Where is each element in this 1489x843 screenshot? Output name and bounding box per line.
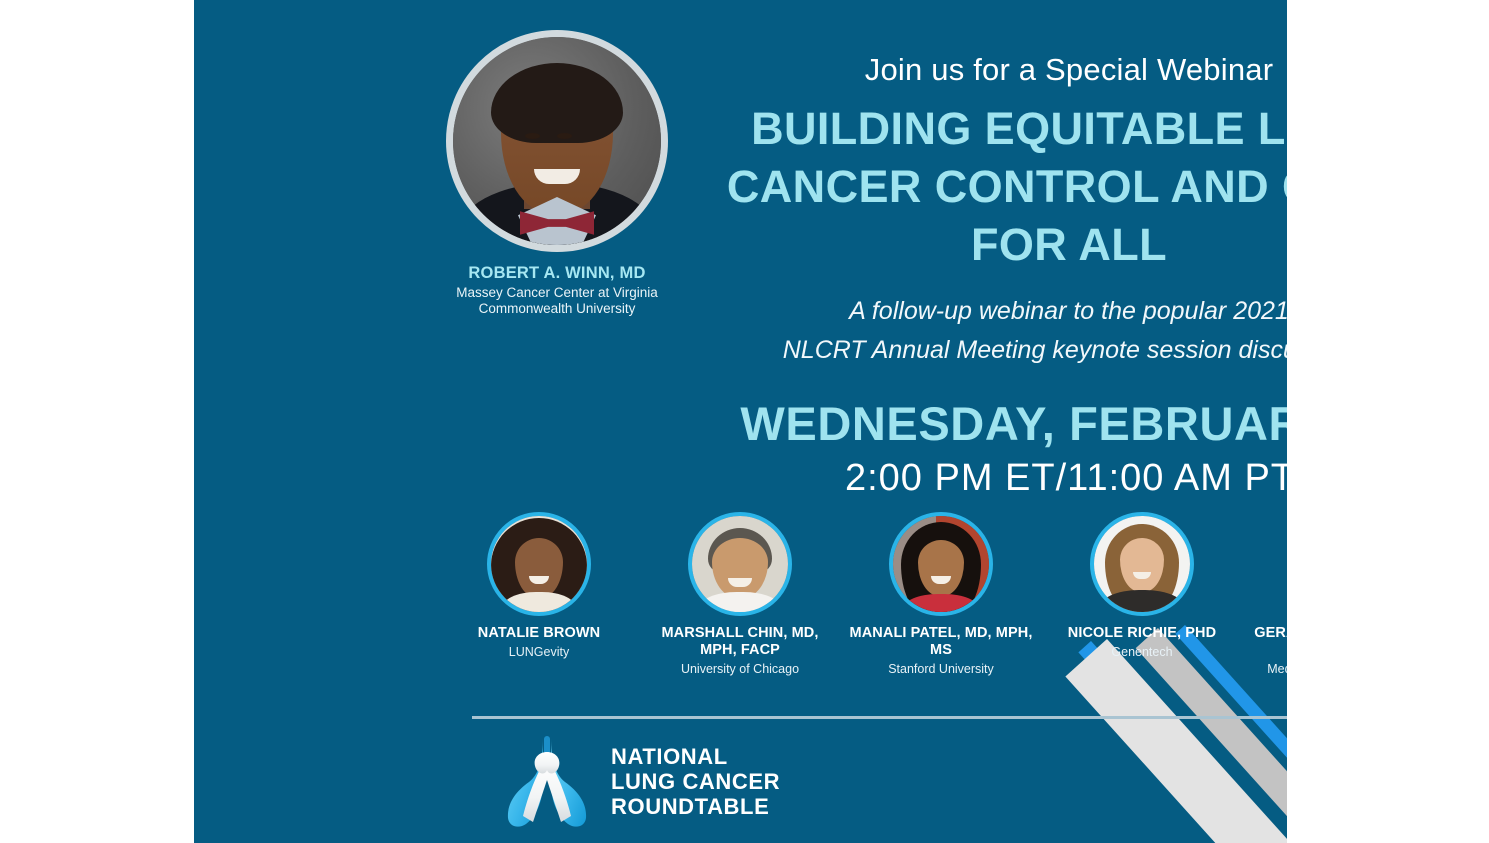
panelist-avatar <box>889 512 993 616</box>
panelist-name: MARSHALL CHIN, MD, MPH, FACP <box>647 625 833 659</box>
subtitle-text: A follow-up webinar to the popular 2021 … <box>694 292 1287 370</box>
org-line-2: LUNG CANCER <box>611 769 780 794</box>
panelist-manali-patel: MANALI PATEL, MD, MPH, MS Stanford Unive… <box>848 512 1034 677</box>
organization-name: NATIONAL LUNG CANCER ROUNDTABLE <box>611 744 780 819</box>
panelist-affiliation: Stanford University <box>848 662 1034 677</box>
avatar-body <box>903 594 979 616</box>
panelist-affiliation: Medical University of South Carolina <box>1250 662 1287 692</box>
org-line-1: NATIONAL <box>611 744 780 769</box>
organization-logo: NATIONAL LUNG CANCER ROUNDTABLE <box>499 730 780 832</box>
panelist-name: NATALIE BROWN <box>446 625 632 642</box>
avatar-eye-right <box>557 133 572 139</box>
poster-canvas: ROBERT A. WINN, MD Massey Cancer Center … <box>0 0 1489 843</box>
org-line-3: ROUNDTABLE <box>611 794 780 819</box>
headline-line-2: CANCER CONTROL AND CARE <box>694 158 1287 216</box>
panelist-role: Moderator <box>1250 692 1287 707</box>
panelist-nicole-richie: NICOLE RICHIE, PHD Genentech <box>1049 512 1235 660</box>
panelist-marshall-chin: MARSHALL CHIN, MD, MPH, FACP University … <box>647 512 833 677</box>
panelist-affiliation: Genentech <box>1049 645 1235 660</box>
keynote-speaker-name: ROBERT A. WINN, MD <box>426 264 688 283</box>
keynote-speaker-block: ROBERT A. WINN, MD Massey Cancer Center … <box>426 30 688 316</box>
avatar-body <box>699 592 781 616</box>
eyebrow-text: Join us for a Special Webinar <box>694 52 1287 88</box>
keynote-speaker-avatar <box>446 30 668 252</box>
subtitle-line-1: A follow-up webinar to the popular 2021 <box>694 292 1287 331</box>
footer-divider <box>472 716 1287 719</box>
lungs-ribbon-icon <box>499 730 595 832</box>
webinar-poster-panel: ROBERT A. WINN, MD Massey Cancer Center … <box>194 0 1287 843</box>
event-time: 2:00 PM ET/11:00 AM PT <box>540 457 1287 500</box>
subtitle-line-2: NLCRT Annual Meeting keynote session dis… <box>694 331 1287 370</box>
event-datetime-block: WEDNESDAY, FEBRUARY 16 2:00 PM ET/11:00 … <box>540 396 1287 500</box>
avatar-eye-left <box>525 133 540 139</box>
keynote-speaker-affiliation: Massey Cancer Center at Virginia Commonw… <box>426 285 688 316</box>
headline-line-1: BUILDING EQUITABLE LUNG <box>694 100 1287 158</box>
avatar-body <box>502 592 576 616</box>
panelist-gerard-silvestri: GERARD SILVESTRI, MD, MS, FCCP Medical U… <box>1250 512 1287 707</box>
panelist-affiliation: LUNGevity <box>446 645 632 660</box>
panelist-name: NICOLE RICHIE, PHD <box>1049 625 1235 642</box>
panelist-name: GERARD SILVESTRI, MD, MS, FCCP <box>1250 625 1287 659</box>
event-date: WEDNESDAY, FEBRUARY 16 <box>540 396 1287 451</box>
headline-line-3: FOR ALL <box>694 216 1287 274</box>
panelist-affiliation: University of Chicago <box>647 662 833 677</box>
header-text-column: Join us for a Special Webinar BUILDING E… <box>694 52 1287 370</box>
headline-title: BUILDING EQUITABLE LUNG CANCER CONTROL A… <box>694 100 1287 274</box>
panelist-avatar <box>688 512 792 616</box>
lungs-ribbon-svg <box>499 730 595 832</box>
avatar-body <box>1100 590 1184 616</box>
panelist-name: MANALI PATEL, MD, MPH, MS <box>848 625 1034 659</box>
panelist-avatar <box>487 512 591 616</box>
panelist-avatar <box>1090 512 1194 616</box>
panelist-natalie-brown: NATALIE BROWN LUNGevity <box>446 512 632 660</box>
panelists-row: NATALIE BROWN LUNGevity MARSHALL CHIN, M… <box>446 512 1287 707</box>
